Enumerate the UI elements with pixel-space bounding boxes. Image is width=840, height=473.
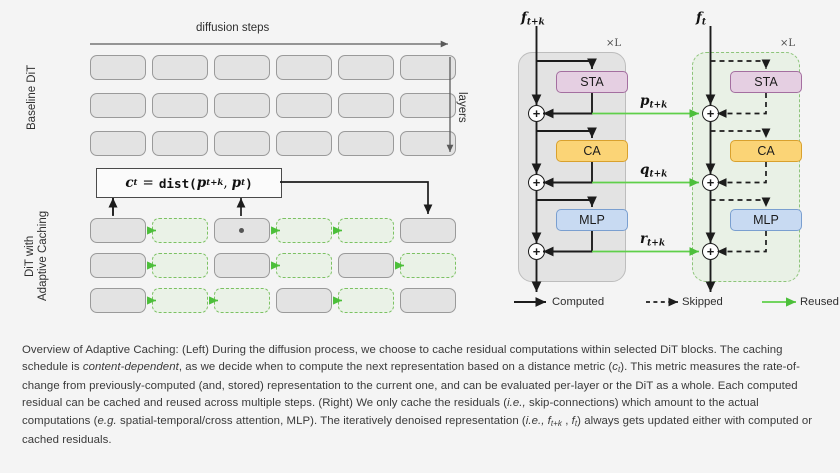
residual-add-node: + — [702, 243, 719, 260]
adaptive-block-computed — [276, 288, 332, 313]
axis-label-layers: layers — [456, 92, 468, 146]
adaptive-block-computed — [400, 288, 456, 313]
caption-part-5: spatial-temporal/cross attention, MLP). … — [117, 415, 526, 427]
distance-metric-equation: ct=dist(pt+k,pt) — [96, 168, 282, 198]
eq-equals: = — [138, 175, 159, 191]
adaptive-block-computed — [338, 253, 394, 278]
adaptive-block-computed — [90, 218, 146, 243]
residual-label-q: qt+k — [640, 162, 667, 179]
baseline-block — [276, 131, 332, 156]
adaptive-block-computed — [90, 253, 146, 278]
selected-block-dot — [239, 228, 244, 233]
legend: Computed Skipped Reused — [512, 296, 822, 314]
baseline-block — [214, 93, 270, 118]
row-label-dit-adaptive-caching: DiT with Adaptive Caching — [24, 196, 50, 316]
caption-em-ie-2: i.e., — [526, 415, 545, 427]
op-block-ca-computed: CA — [556, 140, 628, 162]
residual-label-p: pt+k — [640, 93, 667, 110]
figure-area: Baseline DiT DiT with Adaptive Caching d… — [0, 0, 840, 330]
adaptive-block-cached — [276, 218, 332, 243]
legend-label-reused: Reused — [800, 296, 839, 308]
caption-em-eg: e.g. — [98, 415, 117, 427]
adaptive-block-cached — [214, 288, 270, 313]
adaptive-block-computed — [214, 253, 270, 278]
baseline-block — [338, 55, 394, 80]
baseline-block — [152, 55, 208, 80]
row-label-baseline-dit: Baseline DiT — [26, 42, 39, 152]
eq-arg1-sub: t+k — [206, 178, 223, 188]
repeat-badge-computed: ×L — [606, 38, 621, 49]
baseline-block — [152, 93, 208, 118]
caption-part-2: , as we decide when to compute the next … — [179, 361, 612, 373]
op-block-sta-computed: STA — [556, 71, 628, 93]
adaptive-block-cached — [152, 253, 208, 278]
baseline-block — [152, 131, 208, 156]
caption-em-content-dependent: content-dependent — [83, 361, 179, 373]
residual-add-node: + — [528, 243, 545, 260]
caption-em-ie-1: i.e., — [507, 397, 526, 409]
baseline-block — [338, 131, 394, 156]
axis-label-diffusion-steps: diffusion steps — [196, 22, 269, 34]
baseline-block — [214, 131, 270, 156]
eq-arg2: p — [228, 175, 241, 191]
baseline-block — [400, 131, 456, 156]
input-label-f-t-plus-k: ft+k — [521, 10, 545, 27]
baseline-block — [90, 55, 146, 80]
op-block-mlp-computed: MLP — [556, 209, 628, 231]
adaptive-block-cached — [400, 253, 456, 278]
eq-arg1: p — [197, 175, 206, 191]
residual-label-r: rt+k — [640, 231, 665, 248]
baseline-block — [90, 93, 146, 118]
op-block-mlp-cached: MLP — [730, 209, 802, 231]
op-block-ca-cached: CA — [730, 140, 802, 162]
input-label-f-t: ft — [696, 10, 706, 27]
baseline-block — [338, 93, 394, 118]
legend-label-computed: Computed — [552, 296, 604, 308]
adaptive-block-cached — [152, 218, 208, 243]
baseline-block — [214, 55, 270, 80]
eq-lhs: c — [125, 175, 133, 191]
residual-add-node: + — [528, 174, 545, 191]
baseline-block — [400, 55, 456, 80]
repeat-badge-cached: ×L — [780, 38, 795, 49]
adaptive-block-cached — [338, 218, 394, 243]
op-block-sta-cached: STA — [730, 71, 802, 93]
adaptive-block-cached — [276, 253, 332, 278]
eq-function: dist( — [159, 176, 197, 191]
caption-part-7: , — [562, 415, 572, 427]
residual-add-node: + — [528, 105, 545, 122]
adaptive-block-cached — [152, 288, 208, 313]
baseline-block — [276, 93, 332, 118]
baseline-block — [90, 131, 146, 156]
caption-math-f1-sub: t+k — [551, 418, 562, 427]
adaptive-block-computed — [400, 218, 456, 243]
adaptive-block-computed — [90, 288, 146, 313]
baseline-block — [400, 93, 456, 118]
baseline-block — [276, 55, 332, 80]
residual-add-node: + — [702, 105, 719, 122]
figure-caption: Overview of Adaptive Caching: (Left) Dur… — [22, 342, 822, 449]
adaptive-block-cached — [338, 288, 394, 313]
legend-label-skipped: Skipped — [682, 296, 723, 308]
residual-add-node: + — [702, 174, 719, 191]
eq-close: ) — [245, 176, 253, 191]
